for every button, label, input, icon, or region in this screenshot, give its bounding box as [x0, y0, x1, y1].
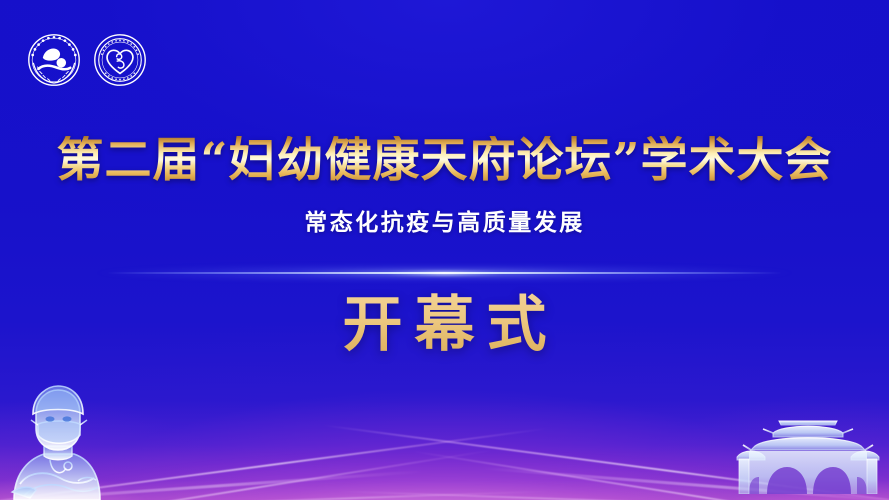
maternal-child-health-emblem-icon	[26, 32, 82, 88]
main-title: 第二届“妇幼健康天府论坛”学术大会	[0, 136, 889, 187]
slide-canvas: 第二届“妇幼健康天府论坛”学术大会 常态化抗疫与高质量发展 开幕式	[0, 0, 889, 500]
floor-glow	[0, 454, 889, 500]
logo-group	[26, 32, 148, 88]
headline-opening-ceremony: 开幕式	[0, 276, 889, 363]
title-block: 第二届“妇幼健康天府论坛”学术大会 常态化抗疫与高质量发展	[0, 136, 889, 237]
subtitle: 常态化抗疫与高质量发展	[0, 203, 889, 237]
maternal-child-heart-emblem-icon	[92, 32, 148, 88]
